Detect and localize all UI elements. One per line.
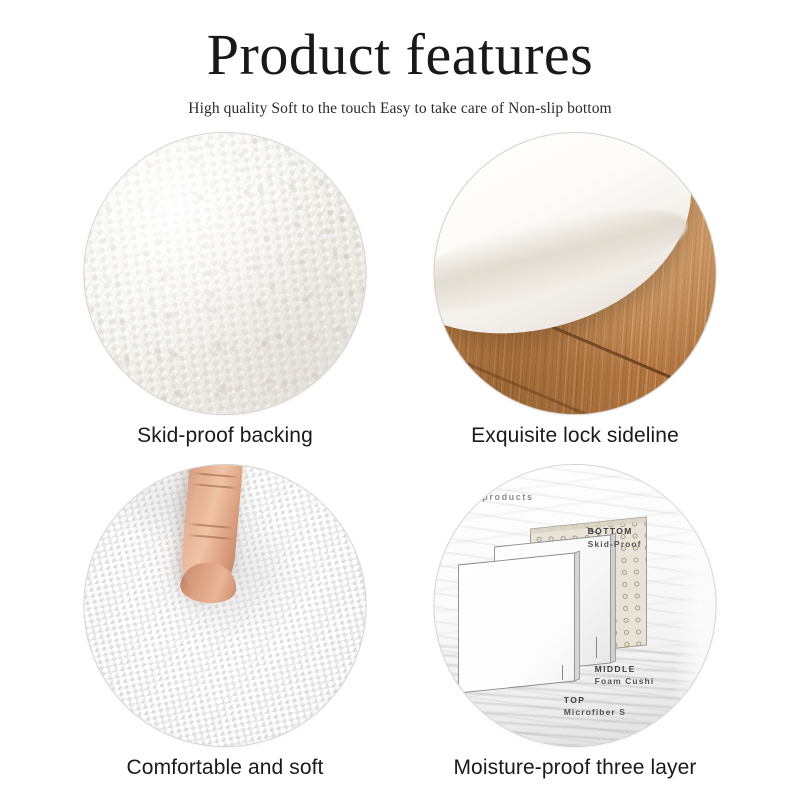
skid-proof-mesh-texture-image bbox=[85, 133, 366, 414]
diagram-watermark: products bbox=[482, 492, 533, 502]
layer-label-top-name: TOP bbox=[564, 694, 626, 706]
product-features-infographic: Product features High quality Soft to th… bbox=[0, 0, 800, 800]
feature-cell-comfortable-and-soft: Comfortable and soft bbox=[55, 465, 395, 795]
layer-label-middle-name: MIDDLE bbox=[595, 663, 655, 675]
feature-image-wrap bbox=[435, 133, 716, 414]
feature-cell-exquisite-lock-sideline: Exquisite lock sideline bbox=[405, 133, 745, 463]
finger-pressing-plush-fabric-image bbox=[85, 465, 366, 746]
layer-label-top: TOP Microfiber S bbox=[564, 694, 626, 719]
page-title: Product features bbox=[0, 0, 800, 84]
layer-label-middle-desc: Foam Cushi bbox=[595, 675, 655, 687]
feature-cell-skid-proof-backing: Skid-proof backing bbox=[55, 133, 395, 463]
header: Product features High quality Soft to th… bbox=[0, 0, 800, 118]
feature-caption: Comfortable and soft bbox=[55, 756, 395, 780]
layer-label-bottom-name: BOTTOM bbox=[588, 525, 642, 537]
mesh-shading-layer bbox=[85, 133, 366, 414]
layer-label-bottom: BOTTOM Skid-Proof bbox=[588, 525, 642, 550]
layer-label-top-desc: Microfiber S bbox=[564, 706, 626, 718]
finger-shape bbox=[178, 465, 243, 596]
feature-caption: Skid-proof backing bbox=[55, 424, 395, 448]
feature-caption: Exquisite lock sideline bbox=[405, 424, 745, 448]
layer-label-middle: MIDDLE Foam Cushi bbox=[595, 663, 655, 688]
page-subtitle: High quality Soft to the touch Easy to t… bbox=[0, 84, 800, 118]
feature-cell-moisture-proof-three-layer: products BOTTOM Skid-Proof MIDDLE Foam C… bbox=[405, 465, 745, 795]
layer-top-microfiber bbox=[459, 551, 580, 693]
feature-caption: Moisture-proof three layer bbox=[405, 756, 745, 780]
feature-grid: Skid-proof backing Exquisite lock sideli… bbox=[0, 133, 800, 800]
three-layer-cutaway-diagram-image: products BOTTOM Skid-Proof MIDDLE Foam C… bbox=[435, 465, 716, 746]
feature-image-wrap: products BOTTOM Skid-Proof MIDDLE Foam C… bbox=[435, 465, 716, 746]
layer-label-bottom-desc: Skid-Proof bbox=[588, 538, 642, 550]
mat-edge-on-wood-floor-image bbox=[435, 133, 716, 414]
feature-image-wrap bbox=[85, 465, 366, 746]
feature-image-wrap bbox=[85, 133, 366, 414]
